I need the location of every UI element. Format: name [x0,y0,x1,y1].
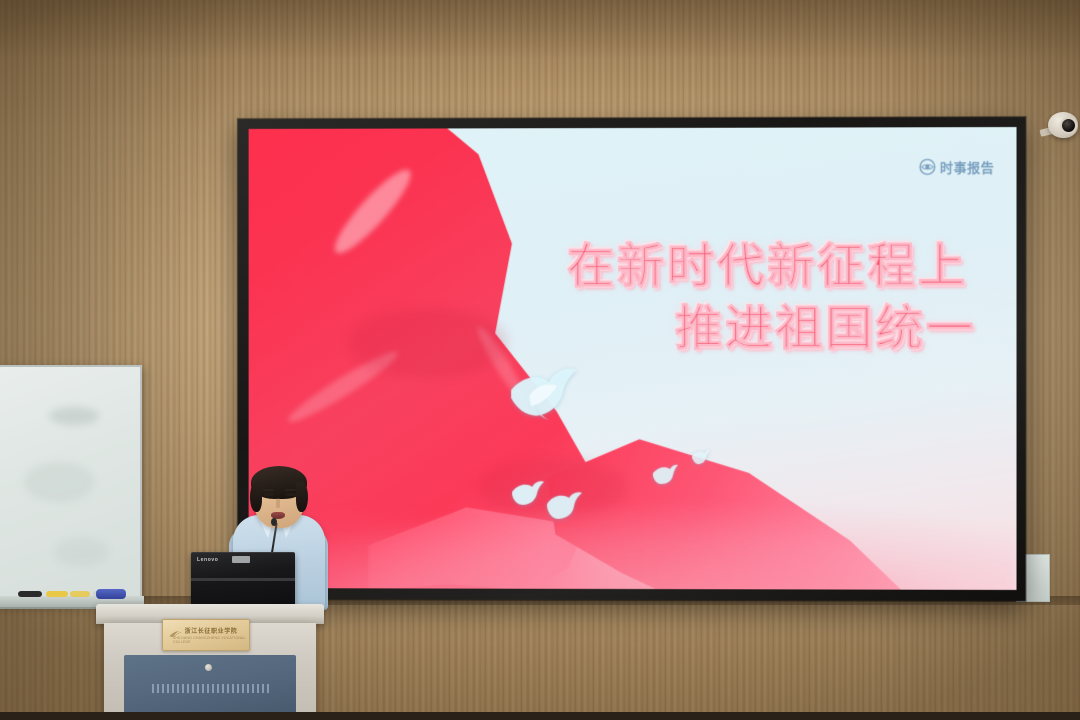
logo-text: 时事报告 [940,157,994,176]
dove-small-icon-2 [543,488,583,522]
speaker-hair-side-right [296,482,308,512]
dove-small-icon-4 [691,448,711,465]
marker-yellow-2[interactable] [70,591,90,597]
floor-strip [0,712,1080,720]
podium-panel-indicator [205,664,212,671]
speaker-eyebrow-right [285,489,296,491]
dove-small-icon-1 [509,478,545,508]
marker-yellow[interactable] [46,591,68,597]
plaque-name-en: ZHEJIANG CHANGZHENG VOCATIONAL COLLEGE [173,636,249,644]
headline-line-2: 推进祖国统一 [455,298,976,360]
whiteboard-smudge [49,407,99,425]
camera-lens-icon [1060,117,1077,134]
plaque-name-cn: 浙江长征职业学院 [185,626,238,635]
eraser-blue[interactable] [96,589,126,599]
laptop-sticker [232,556,250,563]
projection-screen-frame: 时事报告 在新时代新征程上 推进祖国统一 [238,117,1026,601]
laptop-brand-label: Lenovo [197,557,218,563]
lecture-hall-scene: 时事报告 在新时代新征程上 推进祖国统一 Lenovo [0,0,1080,720]
speaker-eye-right [286,493,296,496]
podium-plaque: 浙江长征职业学院 ZHEJIANG CHANGZHENG VOCATIONAL … [162,619,250,651]
speaker-nose [276,498,280,508]
microphone-head [271,518,277,526]
whiteboard [0,365,142,605]
speaker-eye-left [264,493,274,496]
whiteboard-smudge [54,537,109,567]
eye-logo-icon [919,158,936,175]
presentation-slide: 时事报告 在新时代新征程上 推进祖国统一 [249,127,1017,590]
podium-panel-grille [152,684,270,693]
headline-line-1: 在新时代新征程上 [455,236,968,299]
dove-large-icon [505,360,581,422]
speaker-eyebrow-left [263,489,274,491]
speaker-hair-side-left [250,482,262,512]
slide-headline: 在新时代新征程上 推进祖国统一 [455,236,976,361]
dove-small-icon-3 [651,462,679,486]
pink-mist-bottom [249,482,1017,589]
whiteboard-smudge [24,462,94,502]
marker-black[interactable] [18,591,42,597]
laptop-hinge [191,578,295,581]
slide-logo: 时事报告 [919,157,995,176]
